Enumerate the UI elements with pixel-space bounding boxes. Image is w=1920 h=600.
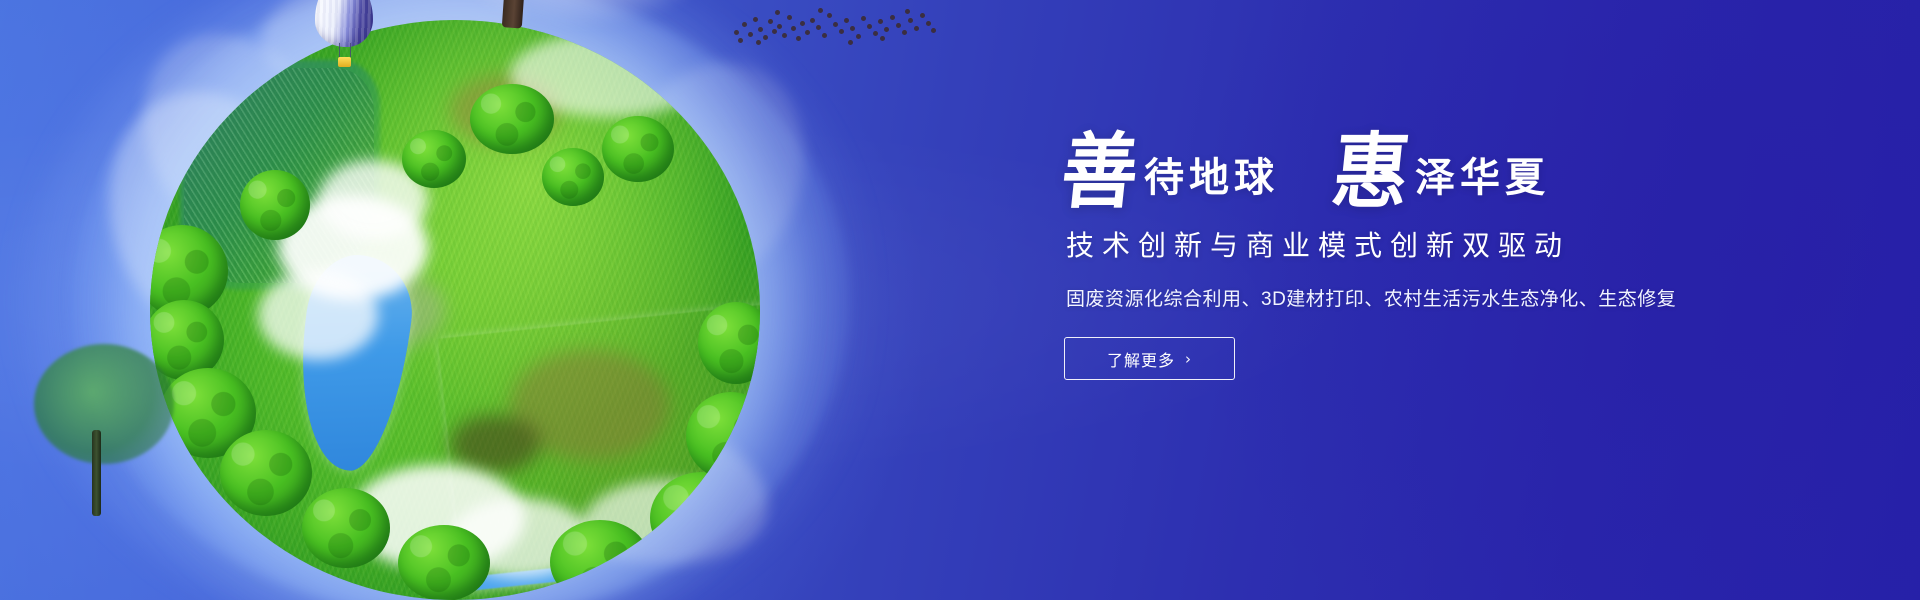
tree-clump — [470, 84, 554, 154]
bird-icon — [848, 40, 853, 45]
bare-tree-trunk — [92, 430, 101, 516]
bird-icon — [763, 35, 768, 40]
balloon-envelope — [315, 0, 373, 47]
bird-icon — [867, 24, 872, 29]
headline-char-2: 惠 — [1329, 131, 1420, 213]
bird-icon — [880, 36, 885, 41]
bird-icon — [810, 18, 815, 23]
bird-icon — [734, 30, 739, 35]
bird-icon — [768, 19, 773, 24]
bird-icon — [822, 33, 827, 38]
tree-clump — [302, 488, 390, 568]
bird-icon — [890, 15, 895, 20]
banner-tagline: 固废资源化综合利用、3D建材打印、农村生活污水生态净化、生态修复 — [1066, 284, 1822, 311]
bird-icon — [839, 29, 844, 34]
bird-icon — [920, 13, 925, 18]
bird-icon — [772, 29, 777, 34]
bare-tree — [26, 344, 176, 519]
learn-more-label: 了解更多 — [1107, 347, 1175, 371]
bird-icon — [914, 26, 919, 31]
bird-icon — [850, 26, 855, 31]
bird-icon — [902, 30, 907, 35]
bird-icon — [775, 10, 780, 15]
bird-icon — [818, 8, 823, 13]
bird-icon — [816, 25, 821, 30]
hot-air-balloon-icon — [315, 0, 373, 73]
bird-icon — [753, 17, 758, 22]
surface-cloud — [258, 270, 378, 360]
bird-icon — [756, 40, 761, 45]
bird-icon — [873, 31, 878, 36]
balloon-lines — [339, 43, 351, 57]
bird-icon — [931, 28, 936, 33]
bird-icon — [827, 13, 832, 18]
bird-flock-icon — [730, 0, 940, 46]
bird-icon — [856, 34, 861, 39]
banner-copy: 善 待地球 惠 泽华夏 技术创新与商业模式创新双驱动 固废资源化综合利用、3D建… — [1062, 134, 1822, 380]
bird-icon — [884, 27, 889, 32]
tree-clump — [650, 472, 754, 564]
bird-icon — [742, 22, 747, 27]
tree-clump — [550, 520, 650, 600]
bird-icon — [861, 16, 866, 21]
tree-clump — [402, 130, 466, 188]
bird-icon — [758, 27, 763, 32]
bird-icon — [805, 30, 810, 35]
bird-icon — [926, 21, 931, 26]
tree-haze — [450, 0, 690, 30]
tree-clump — [542, 148, 604, 206]
bird-icon — [796, 36, 801, 41]
balloon-basket — [338, 57, 351, 67]
headline-text-1: 待地球 — [1144, 158, 1279, 198]
page-title: 善 待地球 惠 泽华夏 — [1062, 134, 1822, 210]
bird-icon — [777, 24, 782, 29]
bare-tree-canopy — [34, 344, 174, 464]
hero-banner: 善 待地球 惠 泽华夏 技术创新与商业模式创新双驱动 固废资源化综合利用、3D建… — [0, 0, 1920, 600]
headline-text-2: 泽华夏 — [1415, 158, 1550, 198]
bird-icon — [748, 32, 753, 37]
bird-icon — [905, 9, 910, 14]
bird-icon — [791, 26, 796, 31]
bird-icon — [878, 19, 883, 24]
tree-clump — [220, 430, 312, 516]
bird-icon — [782, 33, 787, 38]
green-planet — [150, 20, 760, 600]
bird-icon — [844, 18, 849, 23]
bird-icon — [896, 23, 901, 28]
bird-icon — [738, 38, 743, 43]
bird-icon — [833, 22, 838, 27]
bird-icon — [908, 18, 913, 23]
headline-char-1: 善 — [1058, 131, 1149, 213]
bird-icon — [800, 21, 805, 26]
tree-clump — [240, 170, 310, 240]
chevron-right-icon: › — [1185, 350, 1192, 368]
planet-scene — [20, 0, 900, 600]
bird-icon — [787, 15, 792, 20]
tree-clump — [398, 525, 490, 600]
tree-clump — [602, 116, 674, 182]
banner-subtitle: 技术创新与商业模式创新双驱动 — [1066, 224, 1822, 264]
learn-more-button[interactable]: 了解更多 › — [1064, 337, 1235, 380]
